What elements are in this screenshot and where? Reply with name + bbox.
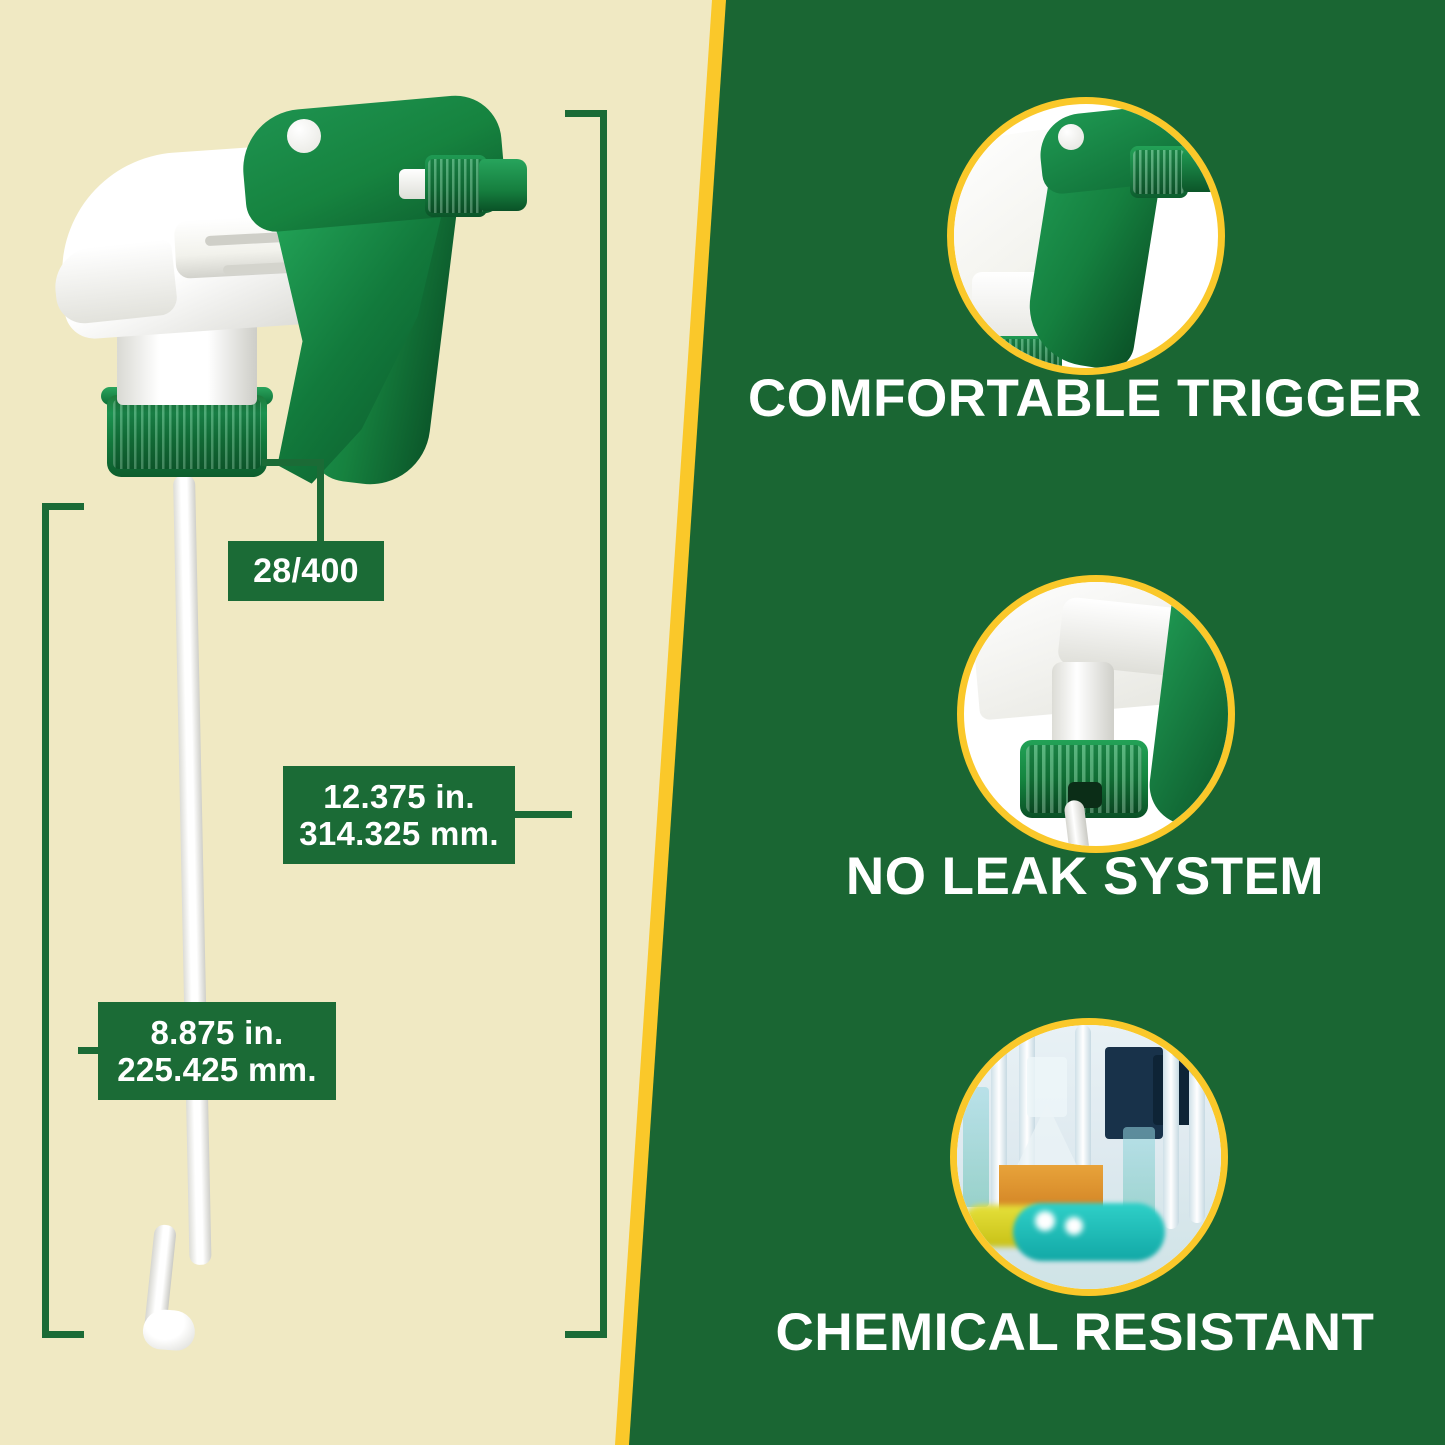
callout-dip-tube-length: 8.875 in. 225.425 mm. [98, 1002, 336, 1100]
feature-image-no-leak-closeup [957, 575, 1235, 853]
dip-tube [173, 475, 212, 1265]
feature-image-trigger-closeup [947, 97, 1225, 375]
infographic-canvas: 28/400 12.375 in. 314.325 mm. 8.875 in. … [0, 0, 1445, 1445]
dip-tube-length-bracket [42, 503, 84, 1338]
nozzle-tip [479, 159, 527, 211]
lab-highlight-2 [1065, 1217, 1083, 1235]
callout-overall-length-mm: 314.325 mm. [299, 816, 499, 853]
overall-length-bracket [565, 110, 607, 1338]
lab-teal-liquid [1013, 1203, 1165, 1261]
trigger-closeup-nozzle-tip [1182, 150, 1216, 192]
lab-glassware-scene [957, 1025, 1221, 1289]
trigger-closeup-pivot-icon [1058, 124, 1084, 150]
trigger-closeup-nozzle [1130, 146, 1188, 198]
callout-neck-size: 28/400 [228, 541, 384, 601]
lab-rod-4 [1163, 1029, 1179, 1229]
trigger-pivot-icon [287, 119, 321, 153]
dip-tube-foot [142, 1308, 197, 1352]
lab-rod-5 [1189, 1043, 1205, 1223]
callout-overall-length: 12.375 in. 314.325 mm. [283, 766, 515, 864]
feature-title-chemical-resistant: CHEMICAL RESISTANT [725, 1302, 1425, 1363]
product-illustration [55, 95, 515, 1365]
no-leak-pivot-icon [1196, 594, 1216, 614]
callout-dip-tube-length-mm: 225.425 mm. [117, 1052, 317, 1089]
feature-image-lab-glassware [950, 1018, 1228, 1296]
overall-length-callout-connector [512, 811, 572, 818]
lab-highlight-1 [1035, 1211, 1055, 1231]
closure-cap [107, 395, 267, 477]
feature-title-no-leak-system: NO LEAK SYSTEM [760, 846, 1410, 907]
callout-dip-tube-length-inches: 8.875 in. [151, 1015, 284, 1052]
nozzle-collar [425, 155, 487, 217]
neck-callout-connector-horizontal [262, 459, 324, 466]
callout-neck-size-label: 28/400 [253, 552, 359, 590]
neck-callout-connector-vertical [317, 459, 324, 547]
feature-title-comfortable-trigger: COMFORTABLE TRIGGER [745, 368, 1425, 429]
callout-overall-length-inches: 12.375 in. [323, 779, 475, 816]
